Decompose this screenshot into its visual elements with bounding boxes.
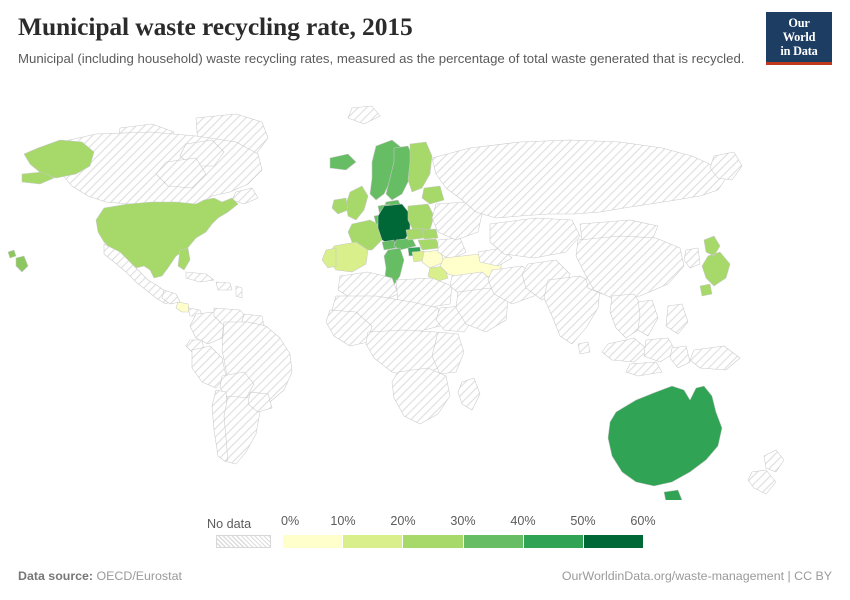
attribution-link[interactable]: OurWorldinData.org/waste-management | CC…: [562, 569, 832, 583]
country-philippines[interactable]: [666, 304, 688, 334]
country-tasmania[interactable]: [664, 490, 682, 500]
country-iceland[interactable]: [330, 154, 356, 170]
our-world-in-data-logo[interactable]: Our World in Data: [766, 12, 832, 65]
country-lesser-antilles[interactable]: [236, 286, 242, 298]
legend-tick-labels: 0% 10% 20% 30% 40% 50% 60%: [283, 514, 643, 532]
legend-color-ramp[interactable]: [283, 535, 643, 548]
owid-chart-map: Municipal waste recycling rate, 2015 Mun…: [0, 0, 850, 600]
country-baltics[interactable]: [422, 186, 444, 204]
country-hispaniola[interactable]: [216, 282, 232, 290]
country-indonesia-java[interactable]: [626, 362, 662, 376]
legend-bin-0-10[interactable]: [283, 535, 343, 548]
legend-tick-40: 40%: [510, 514, 535, 528]
legend-tick-60: 60%: [630, 514, 655, 528]
legend-tick-10: 10%: [330, 514, 355, 528]
country-finland[interactable]: [408, 142, 432, 192]
country-madagascar[interactable]: [458, 378, 480, 410]
legend-tick-50: 50%: [570, 514, 595, 528]
country-united-kingdom[interactable]: [346, 186, 368, 220]
legend-no-data-swatch[interactable]: [216, 535, 271, 548]
country-florida[interactable]: [178, 248, 190, 270]
country-indonesia-sulawesi[interactable]: [670, 346, 690, 368]
legend-bin-20-30[interactable]: [403, 535, 463, 548]
page-title: Municipal waste recycling rate, 2015: [18, 12, 832, 41]
world-map[interactable]: [0, 100, 850, 500]
country-cuba[interactable]: [186, 272, 214, 282]
country-svalbard[interactable]: [348, 106, 380, 124]
chart-footer: Data source: OECD/Eurostat OurWorldinDat…: [18, 566, 832, 586]
map-countries: [8, 106, 784, 500]
legend-tick-20: 20%: [390, 514, 415, 528]
country-poland[interactable]: [408, 204, 434, 232]
country-slovakia[interactable]: [422, 229, 438, 239]
logo-line-2: in Data: [772, 45, 826, 59]
country-korea-peninsula[interactable]: [684, 248, 700, 268]
country-hungary[interactable]: [418, 239, 440, 250]
legend-bin-40-50[interactable]: [524, 535, 584, 548]
country-japan[interactable]: [700, 236, 730, 296]
data-source-value: OECD/Eurostat: [97, 569, 182, 583]
country-southern-africa[interactable]: [392, 368, 450, 424]
country-indonesia-sumatra[interactable]: [602, 338, 648, 362]
legend-tick-0: 0%: [281, 514, 299, 528]
chart-subtitle: Municipal (including household) waste re…: [18, 50, 756, 68]
country-hawaii[interactable]: [8, 250, 28, 272]
country-central-asia[interactable]: [490, 218, 580, 258]
country-switzerland[interactable]: [382, 240, 396, 250]
data-source-label: Data source:: [18, 569, 93, 583]
chart-header: Municipal waste recycling rate, 2015 Mun…: [18, 12, 832, 69]
country-russia[interactable]: [432, 140, 726, 218]
country-costa-rica[interactable]: [176, 302, 190, 312]
data-source: Data source: OECD/Eurostat: [18, 569, 182, 583]
country-vietnam[interactable]: [638, 300, 658, 336]
country-portugal[interactable]: [322, 248, 336, 268]
logo-line-1: Our World: [772, 17, 826, 45]
world-map-svg[interactable]: [0, 100, 850, 500]
legend-bin-50-60[interactable]: [584, 535, 643, 548]
country-australia[interactable]: [608, 386, 722, 486]
country-papua-new-guinea[interactable]: [690, 346, 740, 370]
legend-tick-30: 30%: [450, 514, 475, 528]
legend-bin-30-40[interactable]: [464, 535, 524, 548]
country-myanmar-thailand[interactable]: [610, 294, 644, 338]
legend-no-data-label: No data: [207, 517, 251, 531]
country-new-zealand[interactable]: [748, 450, 784, 494]
legend-bin-10-20[interactable]: [343, 535, 403, 548]
country-ireland[interactable]: [332, 198, 348, 214]
map-legend: No data 0% 10% 20% 30% 40% 50% 60%: [0, 508, 850, 554]
country-sri-lanka[interactable]: [578, 342, 590, 354]
country-united-states[interactable]: [96, 198, 238, 278]
country-czechia[interactable]: [406, 228, 424, 240]
